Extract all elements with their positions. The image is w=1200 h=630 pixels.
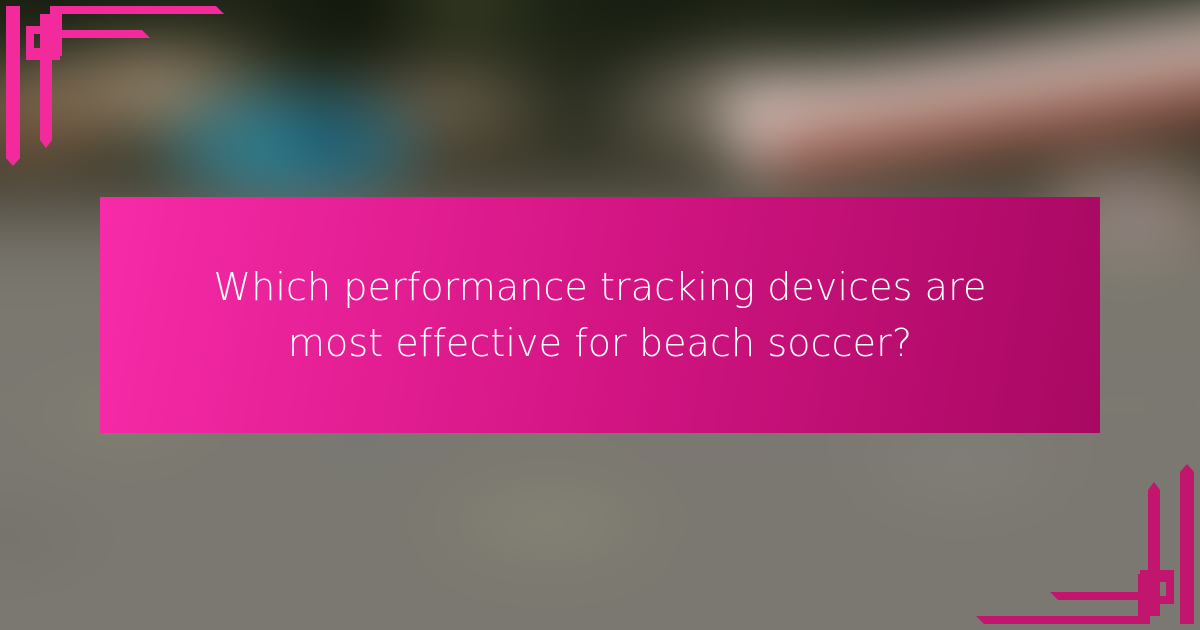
headline-line-2: most effective for beach soccer?	[288, 321, 912, 365]
headline-line-1: Which performance tracking devices are	[214, 265, 987, 309]
question-card: Which performance tracking devices are m…	[0, 0, 1200, 630]
headline-banner: Which performance tracking devices are m…	[100, 197, 1100, 433]
page-title: Which performance tracking devices are m…	[100, 259, 1100, 371]
